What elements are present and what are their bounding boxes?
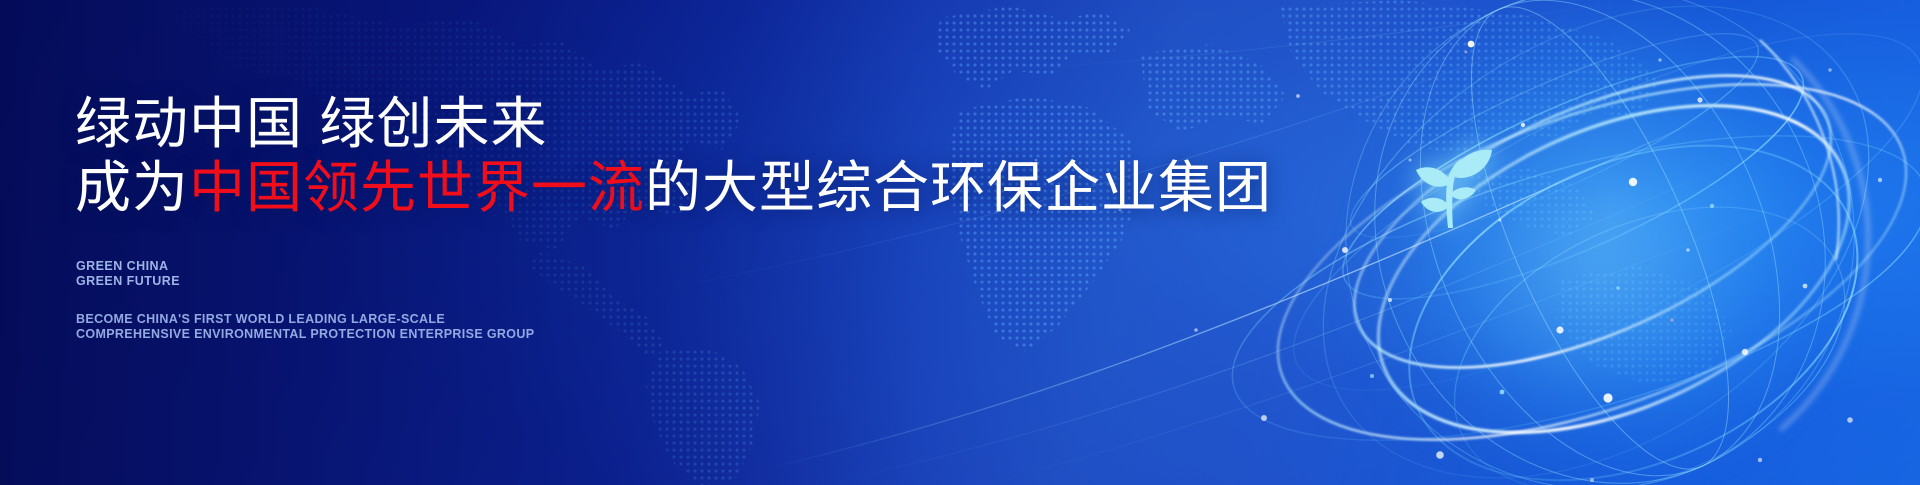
subline-line-1: BECOME CHINA'S FIRST WORLD LEADING LARGE…	[76, 312, 534, 327]
globe-wireframe-icon	[1240, 0, 1920, 485]
globe-glow	[1340, 70, 1860, 485]
headline-line-2-prefix: 成为	[75, 156, 189, 219]
page-title: 绿动中国 绿创未来 成为中国领先世界一流的大型综合环保企业集团	[75, 92, 1272, 220]
subline-line-2: COMPREHENSIVE ENVIRONMENTAL PROTECTION E…	[76, 327, 534, 342]
sprout-leaf-icon	[1390, 128, 1510, 248]
banner-copy: 绿动中国 绿创未来 成为中国领先世界一流的大型综合环保企业集团 GREEN CH…	[75, 0, 1125, 485]
headline-line-2-suffix: 的大型综合环保企业集团	[645, 156, 1272, 219]
tagline: GREEN CHINA GREEN FUTURE	[76, 259, 180, 290]
hero-banner: 绿动中国 绿创未来 成为中国领先世界一流的大型综合环保企业集团 GREEN CH…	[0, 0, 1920, 485]
tagline-line-1: GREEN CHINA	[76, 259, 180, 274]
tagline-line-2: GREEN FUTURE	[76, 274, 180, 289]
headline-line-2-highlight: 中国领先世界一流	[189, 156, 645, 219]
headline-line-1: 绿动中国 绿创未来	[75, 92, 548, 155]
headline-line-2: 成为中国领先世界一流的大型综合环保企业集团	[75, 156, 1272, 220]
subline: BECOME CHINA'S FIRST WORLD LEADING LARGE…	[76, 312, 534, 343]
